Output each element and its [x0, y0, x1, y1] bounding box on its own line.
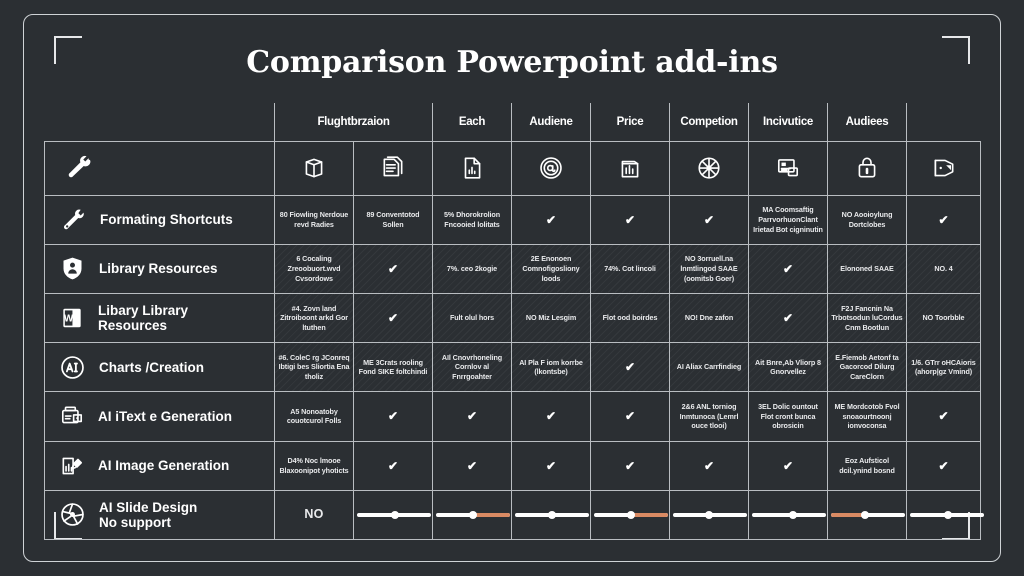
- slider-knob[interactable]: [627, 511, 635, 519]
- table-cell: NO: [275, 490, 354, 539]
- table-cell: 2E Enonoen Comnofigosliony loods: [512, 244, 591, 293]
- table-cell: NO. 4: [907, 244, 981, 293]
- folder-tag-icon: [931, 155, 957, 181]
- row-label-cell: WLibary Library Resources: [45, 294, 275, 343]
- table-cell: Eoz Aufsticol dcil.ynind bosnd: [828, 441, 907, 490]
- check-icon: ✔: [591, 441, 670, 490]
- slider-knob[interactable]: [391, 511, 399, 519]
- table-cell: NO! Dne zafon: [670, 294, 749, 343]
- rating-slider[interactable]: [515, 509, 589, 521]
- row-label-text: AI iText e Generation: [98, 409, 232, 424]
- row-label-text: Charts /Creation: [99, 360, 204, 375]
- check-icon: ✔: [907, 441, 981, 490]
- rating-slider-cell: [749, 490, 828, 539]
- table-cell: A5 Nonoatoby couotcurol Folls: [275, 392, 354, 441]
- row-label-cell: Library Resources: [45, 244, 275, 293]
- wrench-icon: [65, 153, 95, 183]
- rating-slider[interactable]: [752, 509, 826, 521]
- check-icon: ✔: [512, 392, 591, 441]
- table-group-header-audiene: Audiene: [512, 103, 591, 141]
- image-edit-icon: [59, 453, 85, 479]
- row-label-cell: Charts /Creation: [45, 343, 275, 392]
- compass-wheel-icon: [59, 501, 86, 528]
- row-label-text: Libary Library Resources: [98, 303, 188, 333]
- table-cell: F2J Fancnin Na Trbotsodun luCordus Cnm B…: [828, 294, 907, 343]
- cube-icon: [301, 155, 327, 181]
- rating-slider[interactable]: [910, 509, 984, 521]
- table-cell: Ait Bnre,Ab Vliorp 8 Gnorvellez: [749, 343, 828, 392]
- table-group-header-incivutice: Incivutice: [749, 103, 828, 141]
- rating-slider[interactable]: [357, 509, 431, 521]
- slider-fill: [473, 513, 510, 517]
- table-cell: Elononed SAAE: [828, 244, 907, 293]
- presentation-icon: [775, 155, 801, 181]
- table-cell: #6. ColeC rg JConreq Ibtigi bes Sliortia…: [275, 343, 354, 392]
- table-cell: 74%. Cot lincoli: [591, 244, 670, 293]
- column-icon-cell-5: [591, 141, 670, 195]
- column-icon-cell-2: [354, 141, 433, 195]
- table-cell: AIl Cnovrhoneling Cornlov al Fnrrgoahter: [433, 343, 512, 392]
- rating-slider-cell: [354, 490, 433, 539]
- table-cell: 80 Fiowling Nerdoue revd Radies: [275, 195, 354, 244]
- table-row: AI Image GenerationD4% Noc lmooe Blaxoon…: [45, 441, 981, 490]
- check-icon: ✔: [591, 343, 670, 392]
- slide-canvas: Comparison Powerpoint add-ins Flughtbrza…: [0, 0, 1024, 576]
- row-label-text: AI Image Generation: [98, 458, 229, 473]
- lock-bag-icon: [854, 155, 880, 181]
- check-icon: ✔: [354, 294, 433, 343]
- table-cell: MA Coomsaftig ParrvorhuonClant Irietad B…: [749, 195, 828, 244]
- check-icon: ✔: [749, 441, 828, 490]
- check-icon: ✔: [907, 392, 981, 441]
- rating-slider[interactable]: [436, 509, 510, 521]
- rating-slider-cell: [433, 490, 512, 539]
- table-group-header-each: Each: [433, 103, 512, 141]
- slider-knob[interactable]: [861, 511, 869, 519]
- wrench-screw-icon: [59, 206, 87, 234]
- word-document-icon: W: [59, 305, 85, 331]
- slider-fill: [831, 513, 865, 517]
- column-icon-cell-9: [907, 141, 981, 195]
- bar-chart-bag-icon: [617, 155, 643, 181]
- ai-circle-icon: [59, 354, 86, 381]
- rating-slider-cell: [907, 490, 981, 539]
- table-group-header-audiees: Audiees: [828, 103, 907, 141]
- slider-knob[interactable]: [548, 511, 556, 519]
- table-cell: 3EL Dolic ountout Flot cront bunca obros…: [749, 392, 828, 441]
- row-label-text: Formating Shortcuts: [100, 212, 233, 227]
- row-label-text: AI Slide Design No support: [99, 500, 197, 530]
- rating-slider[interactable]: [673, 509, 747, 521]
- row-label-text: Library Resources: [99, 261, 218, 276]
- globe-spokes-icon: [696, 155, 722, 181]
- table-cell: Fult olul hors: [433, 294, 512, 343]
- slide-title: Comparison Powerpoint add-ins: [0, 45, 1024, 80]
- rating-slider-cell: [591, 490, 670, 539]
- shield-person-icon: [59, 255, 86, 282]
- table-cell: ME Mordcotob Fvol snoaourtnoonj ionvocon…: [828, 392, 907, 441]
- table-group-header-flughtbrzaion: Flughtbrzaion: [275, 103, 433, 141]
- at-circle-icon: [538, 155, 564, 181]
- table-cell: NO Aooioylung Dortclobes: [828, 195, 907, 244]
- table-cell: 89 Conventotod Sollen: [354, 195, 433, 244]
- table-group-header-row: FlughtbrzaionEachAudienePriceCompetionIn…: [45, 103, 981, 141]
- slider-knob[interactable]: [789, 511, 797, 519]
- table-row: Charts /Creation#6. ColeC rg JConreq Ibt…: [45, 343, 981, 392]
- table-row: Library Resources6 Cocaling Zreoobuort.w…: [45, 244, 981, 293]
- table-cell: 5% Dhorokrolion Fncooied lolitats: [433, 195, 512, 244]
- table-cell: AI Pla F iom korrbe (lkontsbe): [512, 343, 591, 392]
- check-icon: ✔: [749, 244, 828, 293]
- check-icon: ✔: [512, 441, 591, 490]
- column-icon-cell-1: [275, 141, 354, 195]
- check-icon: ✔: [354, 392, 433, 441]
- row-label-cell: AI iText e Generation: [45, 392, 275, 441]
- column-icon-cell-3: [433, 141, 512, 195]
- table-row: AI Slide Design No supportNO: [45, 490, 981, 539]
- table-cell: #4. Zovn land Zitroiboont arkd Gor ltuth…: [275, 294, 354, 343]
- check-icon: ✔: [433, 441, 512, 490]
- row-label-cell: AI Slide Design No support: [45, 490, 275, 539]
- rating-slider-cell: [670, 490, 749, 539]
- check-icon: ✔: [749, 294, 828, 343]
- table-cell: D4% Noc lmooe Blaxoonipot yhoticts: [275, 441, 354, 490]
- check-icon: ✔: [670, 441, 749, 490]
- table-row: Formating Shortcuts80 Fiowling Nerdoue r…: [45, 195, 981, 244]
- rating-slider-cell: [512, 490, 591, 539]
- table-cell: 1/6. GTrr oHCAioris (ahorp|gz Vmind): [907, 343, 981, 392]
- slider-knob[interactable]: [944, 511, 952, 519]
- table-cell: 6 Cocaling Zreoobuort.wvd Cvsordows: [275, 244, 354, 293]
- table-cell: 2&6 ANL torniog Inmtunoca (Lemrl ouce tl…: [670, 392, 749, 441]
- table-corner-cell: [45, 141, 275, 195]
- check-icon: ✔: [907, 195, 981, 244]
- row-label-cell: AI Image Generation: [45, 441, 275, 490]
- rating-slider-cell: [828, 490, 907, 539]
- slider-knob[interactable]: [705, 511, 713, 519]
- table-cell: 7%. ceo 2kogie: [433, 244, 512, 293]
- column-icon-cell-8: [828, 141, 907, 195]
- chart-document-icon: [459, 155, 485, 181]
- check-icon: ✔: [591, 392, 670, 441]
- documents-icon: [380, 155, 406, 181]
- table-cell: NO 3orruell.na lnmtlingod SAAE (oomitsb …: [670, 244, 749, 293]
- table-cell: Flot ood boirdes: [591, 294, 670, 343]
- table-icon-row: [45, 141, 981, 195]
- row-label-cell: Formating Shortcuts: [45, 195, 275, 244]
- table-group-header-blank: [45, 103, 275, 141]
- column-icon-cell-6: [670, 141, 749, 195]
- table-cell: NO Miz Lesgim: [512, 294, 591, 343]
- check-icon: ✔: [354, 441, 433, 490]
- comparison-table-wrap: FlughtbrzaionEachAudienePriceCompetionIn…: [44, 103, 980, 540]
- check-icon: ✔: [591, 195, 670, 244]
- table-body: Formating Shortcuts80 Fiowling Nerdoue r…: [45, 141, 981, 540]
- column-icon-cell-4: [512, 141, 591, 195]
- check-icon: ✔: [512, 195, 591, 244]
- table-cell: E.Fiemob Aetonf ta Gacorcod Dilurg CareC…: [828, 343, 907, 392]
- table-cell: ME 3Crats rooling Fond SIKE foltchindi: [354, 343, 433, 392]
- column-icon-cell-7: [749, 141, 828, 195]
- table-group-header-price: Price: [591, 103, 670, 141]
- comparison-table: FlughtbrzaionEachAudienePriceCompetionIn…: [44, 103, 981, 540]
- check-icon: ✔: [433, 392, 512, 441]
- svg-text:W: W: [64, 313, 74, 324]
- check-icon: ✔: [354, 244, 433, 293]
- card-swipe-icon: [59, 403, 85, 429]
- table-row: AI iText e GenerationA5 Nonoatoby couotc…: [45, 392, 981, 441]
- rating-slider[interactable]: [831, 509, 905, 521]
- slider-knob[interactable]: [469, 511, 477, 519]
- table-cell: AI Aliax Carrfindieg: [670, 343, 749, 392]
- check-icon: ✔: [670, 195, 749, 244]
- table-cell: NO Toorbble: [907, 294, 981, 343]
- rating-slider[interactable]: [594, 509, 668, 521]
- table-row: WLibary Library Resources#4. Zovn land Z…: [45, 294, 981, 343]
- table-group-header-competion: Competion: [670, 103, 749, 141]
- slider-fill: [631, 513, 668, 517]
